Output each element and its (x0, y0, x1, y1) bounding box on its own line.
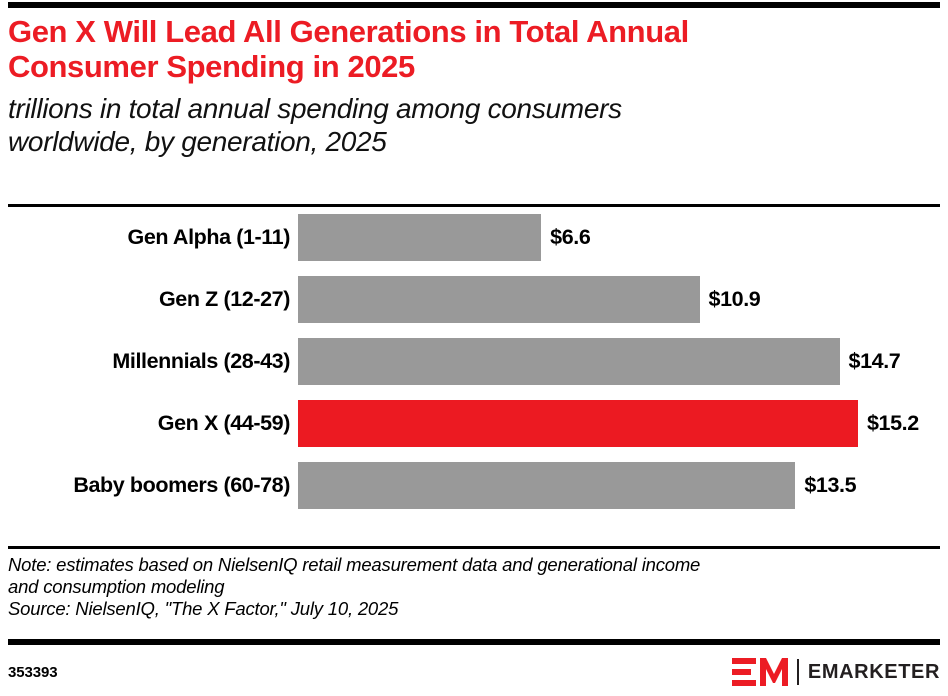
bar-fill[interactable] (298, 338, 840, 385)
bar-track: $15.2 (298, 400, 948, 447)
chart-card: Gen X Will Lead All Generations in Total… (0, 0, 948, 696)
bar-fill[interactable] (298, 462, 795, 509)
bar-value-label: $10.9 (709, 287, 761, 312)
bar-track: $10.9 (298, 276, 948, 323)
bar-fill[interactable] (298, 276, 700, 323)
bar-row: Gen Alpha (1-11) $6.6 (0, 214, 948, 261)
bar-value-label: $14.7 (849, 349, 901, 374)
bar-row: Baby boomers (60-78) $13.5 (0, 462, 948, 509)
bar-row: Gen Z (12-27) $10.9 (0, 276, 948, 323)
brand-wordmark: EMARKETER (808, 661, 940, 684)
logo-divider (797, 659, 799, 685)
footer-rule (8, 639, 940, 645)
bar-category-label: Millennials (28-43) (0, 349, 298, 374)
chart-footer: 353393 EMARKETER (8, 655, 940, 689)
bar-value-label: $15.2 (867, 411, 919, 436)
chart-note: Note: estimates based on NielsenIQ retai… (8, 554, 940, 598)
emarketer-logo: EMARKETER (732, 658, 940, 686)
bar-track: $14.7 (298, 338, 948, 385)
bar-category-label: Gen X (44-59) (0, 411, 298, 436)
bar-track: $6.6 (298, 214, 948, 261)
bar-chart-plot: Gen Alpha (1-11) $6.6 Gen Z (12-27) $10.… (0, 214, 948, 540)
bar-fill[interactable] (298, 214, 541, 261)
chart-top-rule (8, 204, 940, 207)
bar-row: Millennials (28-43) $14.7 (0, 338, 948, 385)
chart-subtitle: trillions in total annual spending among… (8, 92, 940, 158)
bar-row: Gen X (44-59) $15.2 (0, 400, 948, 447)
chart-source: Source: NielsenIQ, "The X Factor," July … (8, 598, 940, 620)
bar-category-label: Baby boomers (60-78) (0, 473, 298, 498)
bar-track: $13.5 (298, 462, 948, 509)
chart-header: Gen X Will Lead All Generations in Total… (8, 14, 940, 158)
bar-value-label: $6.6 (550, 225, 590, 250)
bar-category-label: Gen Z (12-27) (0, 287, 298, 312)
chart-title: Gen X Will Lead All Generations in Total… (8, 14, 940, 85)
bar-value-label: $13.5 (804, 473, 856, 498)
top-rule (8, 2, 940, 8)
chart-id: 353393 (8, 664, 57, 681)
bar-fill-highlight[interactable] (298, 400, 858, 447)
em-monogram-icon (732, 658, 788, 686)
chart-note-block: Note: estimates based on NielsenIQ retai… (8, 554, 940, 621)
note-top-rule (8, 546, 940, 549)
bar-category-label: Gen Alpha (1-11) (0, 225, 298, 250)
